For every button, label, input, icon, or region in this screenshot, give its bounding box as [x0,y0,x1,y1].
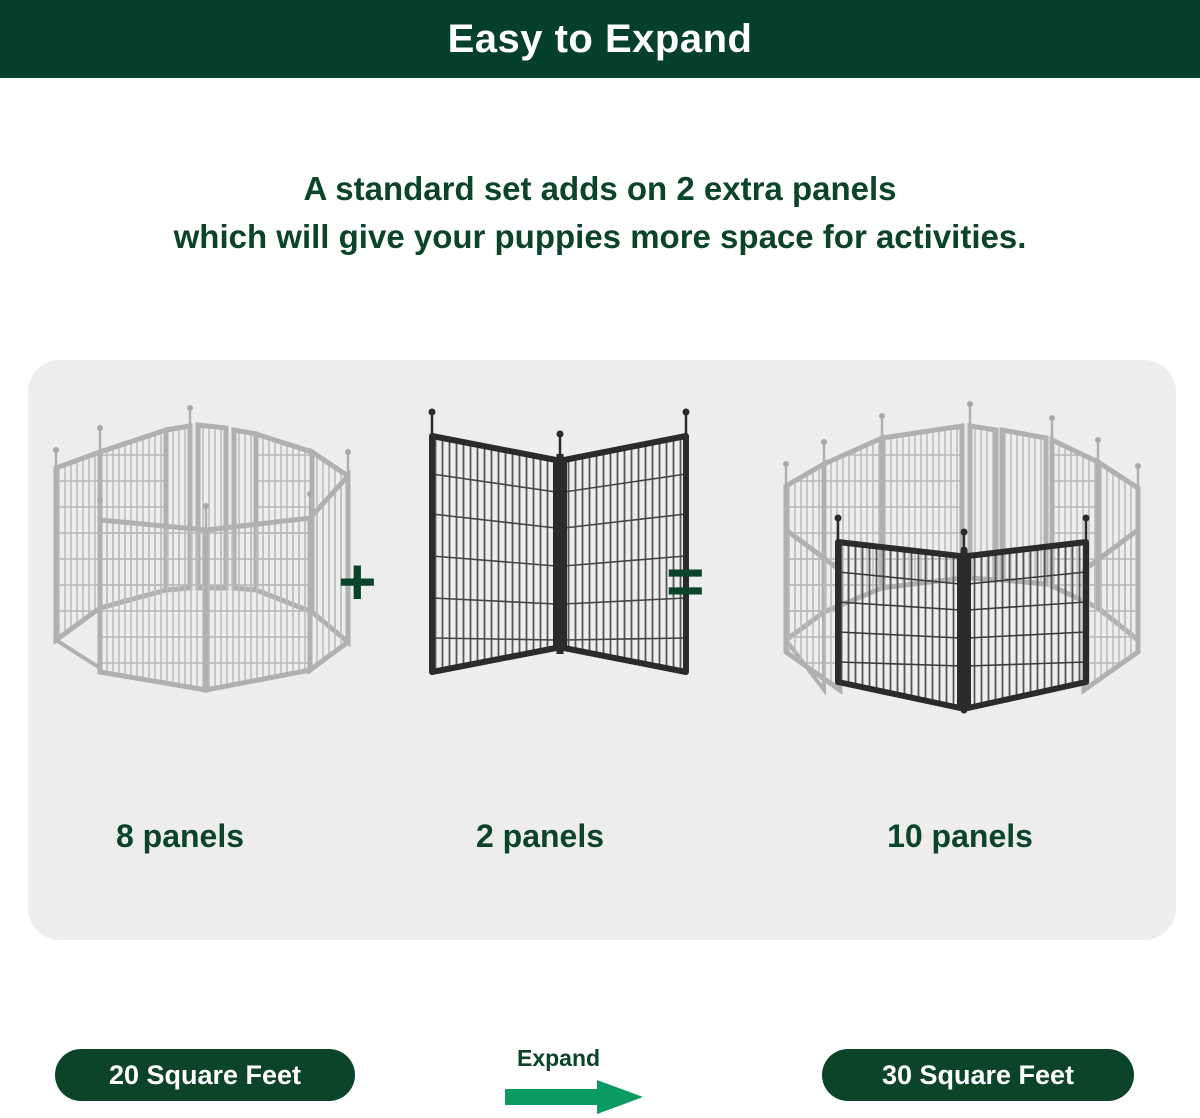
footer-row: 20 Square Feet Expand 30 Square Feet [0,1045,1200,1118]
expanded-pen-illustration [768,390,1158,720]
extra-panels-count-label: 2 panels [390,820,690,852]
two-panel-section-icon [418,390,698,720]
header-banner: Easy to Expand [0,0,1200,78]
area-badge-before: 20 Square Feet [55,1049,355,1101]
octagon-playpen-icon [38,390,368,720]
area-badge-after: 30 Square Feet [822,1049,1134,1101]
plus-operator-icon: + [338,548,377,614]
subtitle-text: A standard set adds on 2 extra panels wh… [0,165,1200,261]
expand-label: Expand [517,1047,675,1070]
expand-indicator: Expand [505,1045,675,1118]
page-title: Easy to Expand [448,19,753,59]
decagon-playpen-icon [768,390,1158,720]
base-pen-count-label: 8 panels [30,820,330,852]
illustration-row [28,360,1176,780]
extra-panels-illustration [418,390,698,720]
base-pen-illustration [38,390,368,720]
right-arrow-icon [505,1080,645,1114]
expanded-pen-count-label: 10 panels [800,820,1120,852]
equals-operator-icon: = [666,548,705,614]
